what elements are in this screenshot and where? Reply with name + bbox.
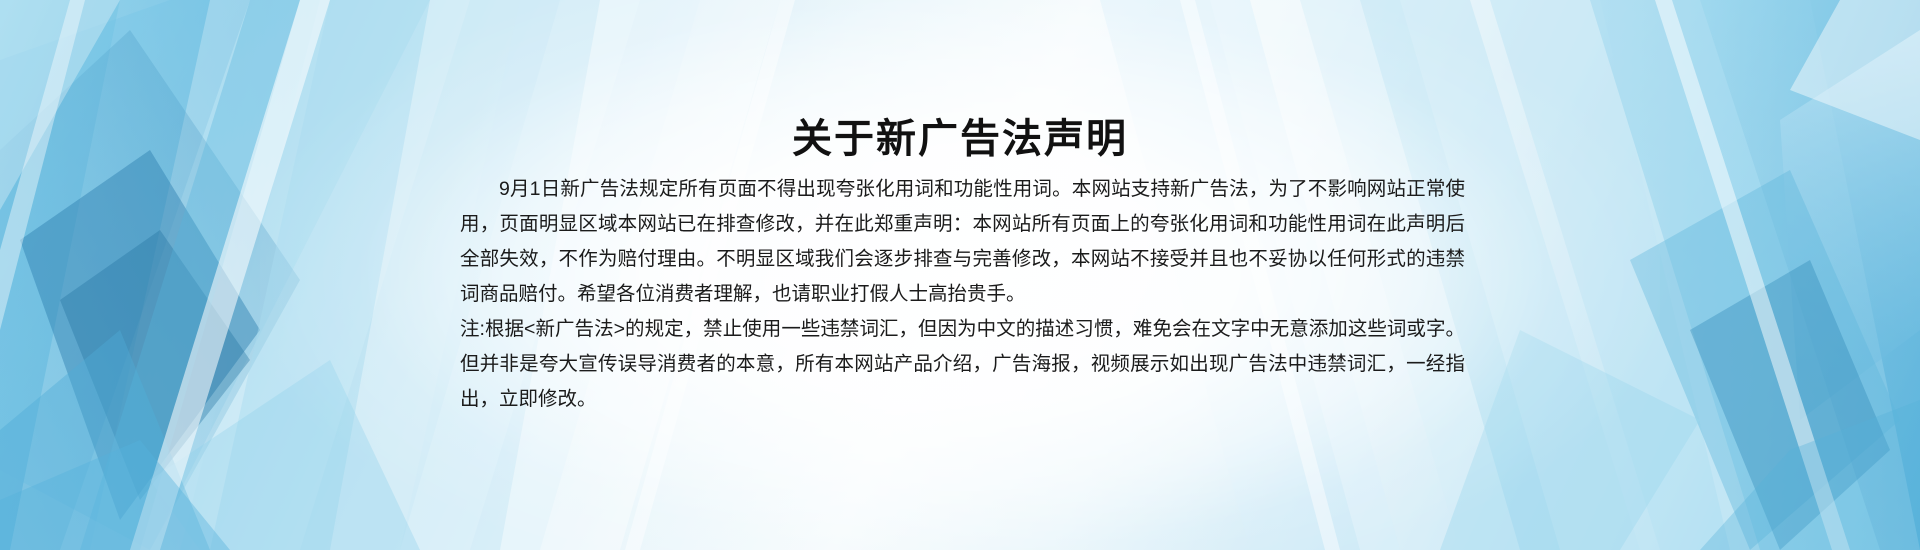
statement-paragraph-1: 9月1日新广告法规定所有页面不得出现夸张化用词和功能性用词。本网站支持新广告法，…: [460, 172, 1465, 312]
page-title: 关于新广告法声明: [0, 115, 1920, 163]
statement-body: 9月1日新广告法规定所有页面不得出现夸张化用词和功能性用词。本网站支持新广告法，…: [460, 172, 1465, 417]
statement-content: 关于新广告法声明 9月1日新广告法规定所有页面不得出现夸张化用词和功能性用词。本…: [0, 0, 1920, 550]
advertising-law-statement-banner: 关于新广告法声明 9月1日新广告法规定所有页面不得出现夸张化用词和功能性用词。本…: [0, 0, 1920, 550]
statement-paragraph-2: 注:根据<新广告法>的规定，禁止使用一些违禁词汇，但因为中文的描述习惯，难免会在…: [460, 312, 1465, 417]
